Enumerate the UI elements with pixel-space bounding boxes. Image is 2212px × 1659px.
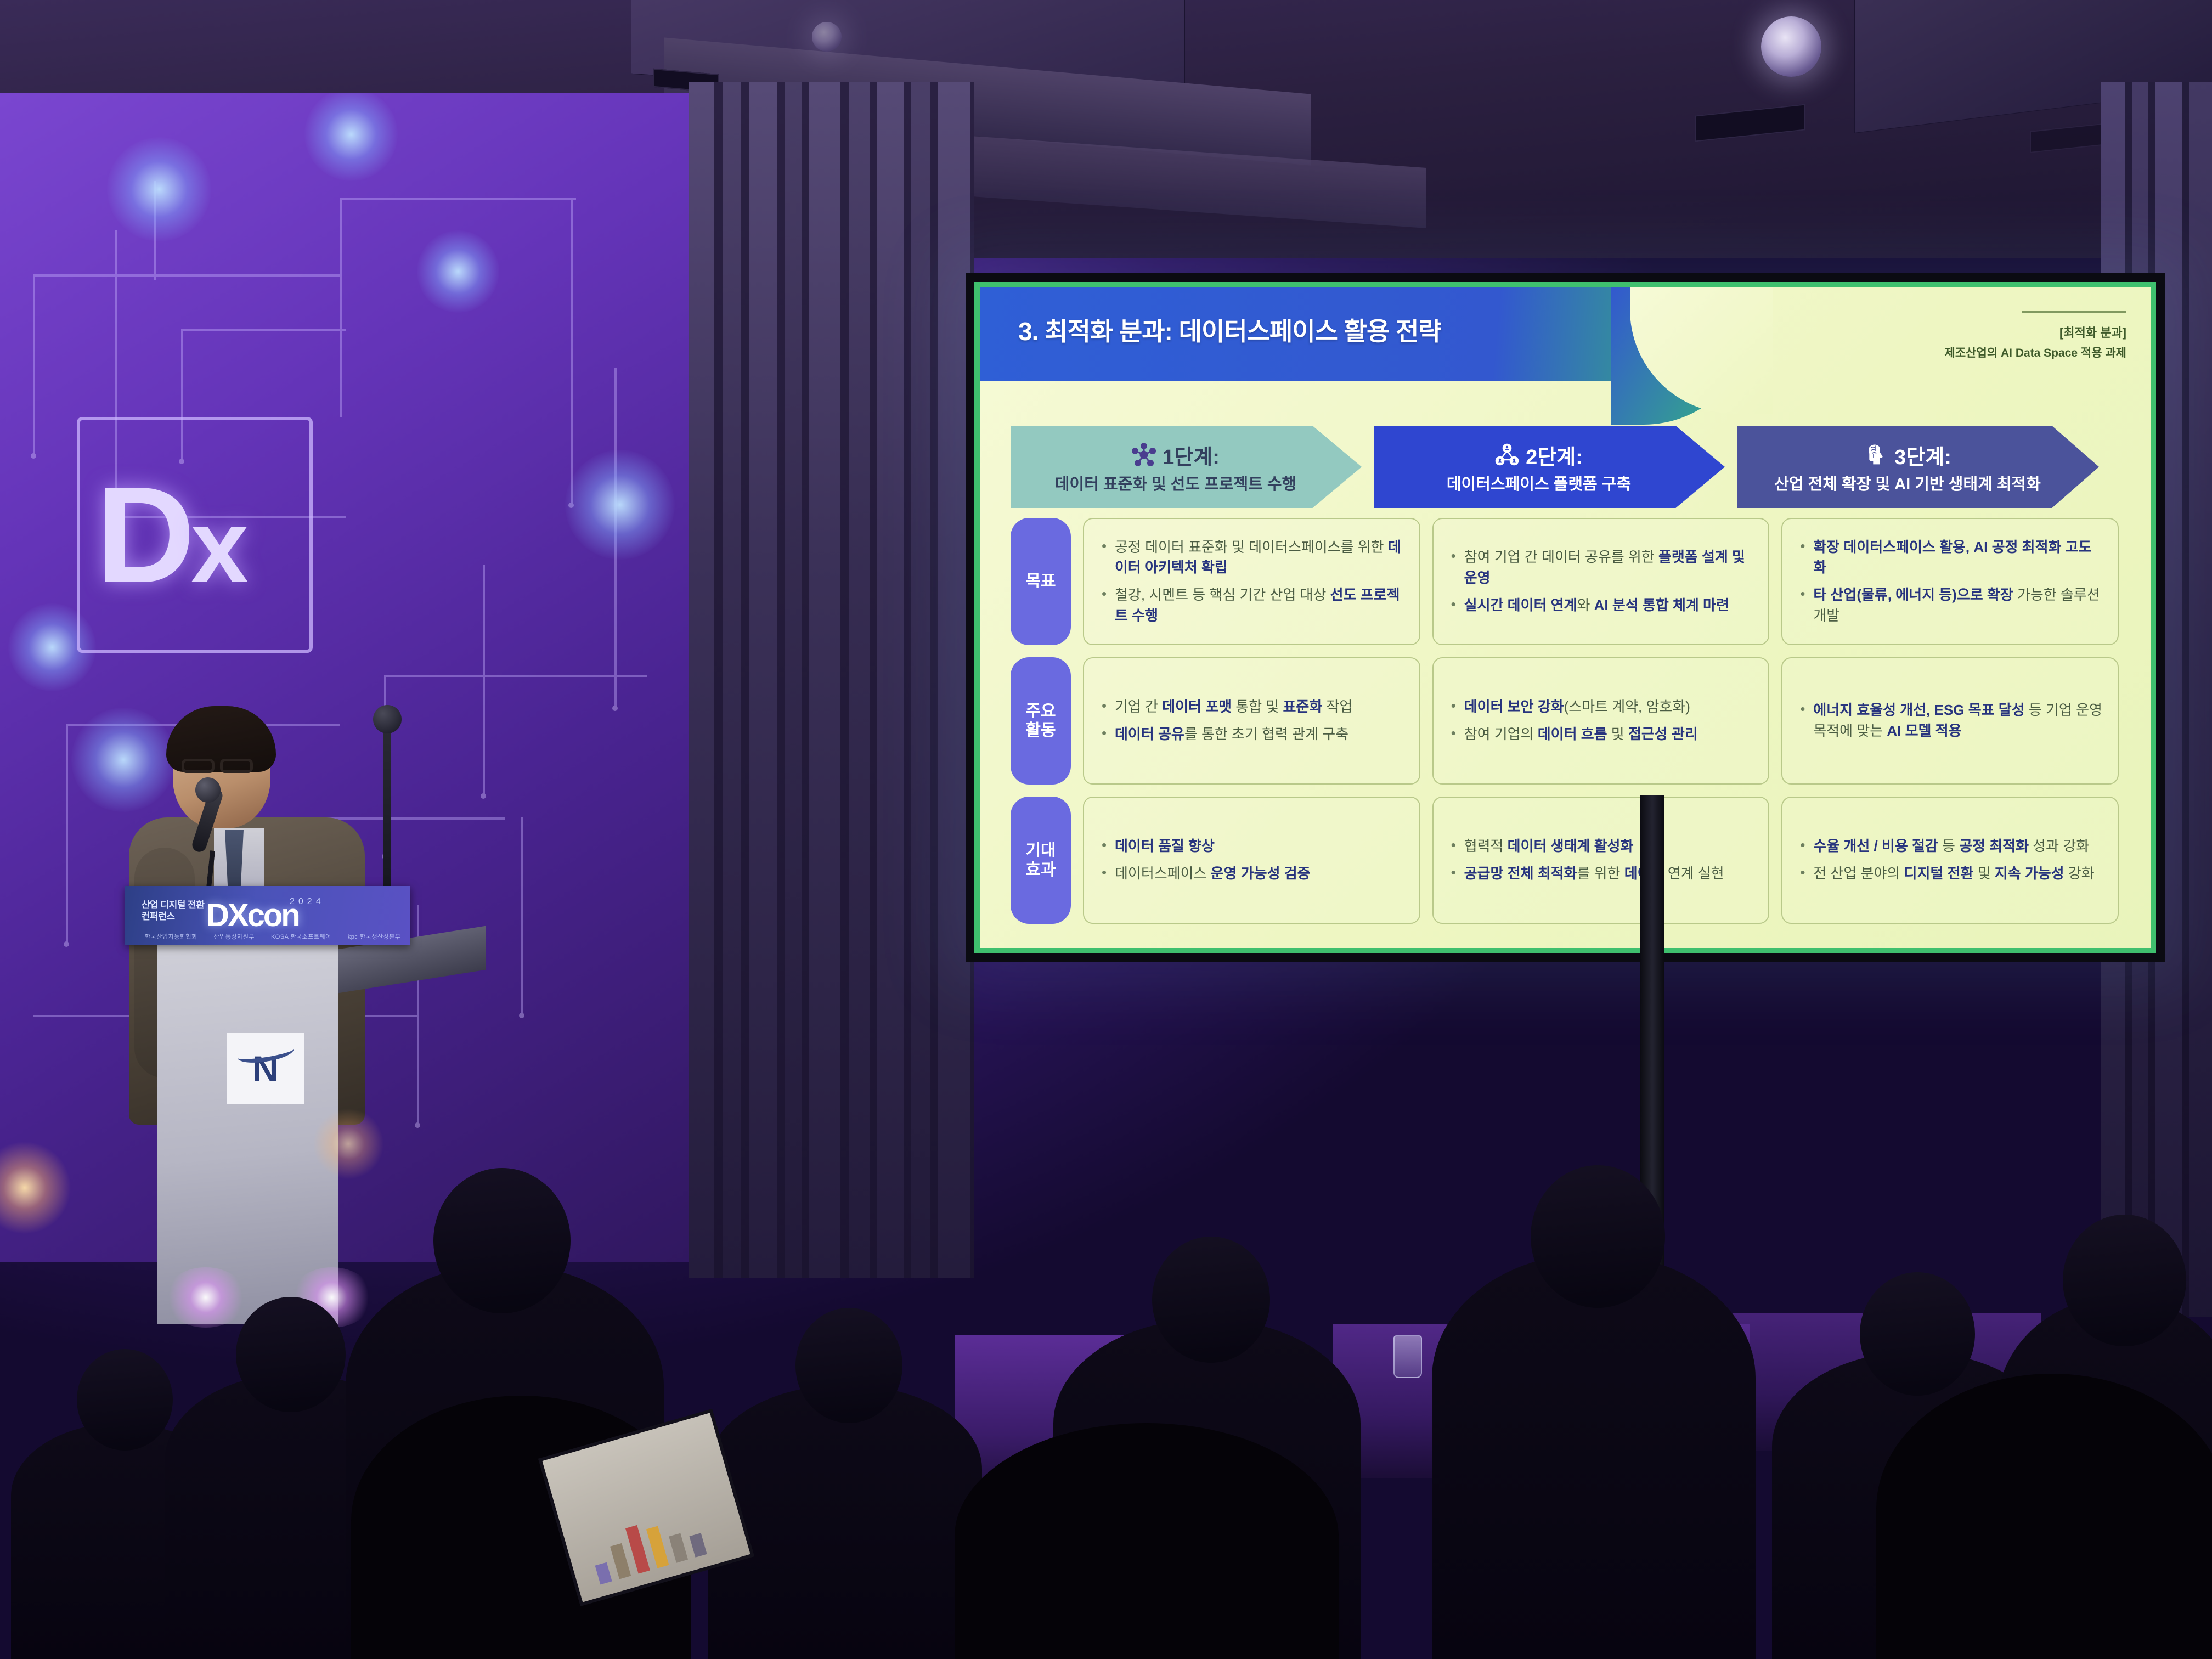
bullet: 공정 데이터 표준화 및 데이터스페이스를 위한 데이터 아키텍처 확립: [1098, 537, 1405, 578]
stage-label: 1단계:: [1163, 440, 1220, 470]
bullet: 에너지 효율성 개선, ESG 목표 달성 등 기업 운영 목적에 맞는 AI …: [1797, 700, 2103, 741]
ceiling-vent: [1695, 104, 1805, 142]
slide-title: 3. 최적화 분과: 데이터스페이스 활용 전략: [1018, 312, 1441, 348]
matrix-cell: 확장 데이터스페이스 활용, AI 공정 최적화 고도화 타 산업(물류, 에너…: [1781, 518, 2119, 645]
water-glass: [1393, 1335, 1422, 1378]
row-label-goal: 목표: [1011, 518, 1071, 645]
audience-area: [0, 1028, 2212, 1659]
audience-head: [1531, 1165, 1665, 1308]
strategy-matrix: 목표 공정 데이터 표준화 및 데이터스페이스를 위한 데이터 아키텍처 확립 …: [1011, 518, 2119, 936]
laptop-chart-bar: [646, 1526, 669, 1568]
matrix-cell: 수율 개선 / 비용 절감 등 공정 최적화 성과 강화 전 산업 분야의 디지…: [1781, 797, 2119, 924]
microphone-head: [195, 777, 221, 803]
audience-head: [433, 1168, 571, 1313]
matrix-row: 주요 활동 기업 간 데이터 포맷 통합 및 표준화 작업 데이터 공유를 통한…: [1011, 657, 2119, 785]
audience-head: [2063, 1215, 2186, 1346]
audience-member: [1432, 1253, 1756, 1659]
audience-head: [1152, 1237, 1270, 1363]
conference-photo-scene: Dx 3. 최적화 분과: 데이터스페이스 활용 전략 [최적화 분과]: [0, 0, 2212, 1659]
ceiling-spotlight: [812, 22, 842, 52]
sponsor-strip: 한국산업지능화협회 산업통상자원부 KOSA 한국소프트웨어 kpc 한국생산성…: [145, 932, 400, 941]
stage-arrow-2: 2단계: 데이터스페이스 플랫폼 구축: [1374, 426, 1725, 508]
podium-banner: 산업 디지털 전환 컨퍼런스 DXcon 2024 한국산업지능화협회 산업통상…: [125, 886, 410, 945]
speaker-glasses-left: [182, 759, 215, 773]
matrix-cell: 에너지 효율성 개선, ESG 목표 달성 등 기업 운영 목적에 맞는 AI …: [1781, 657, 2119, 785]
bullet: 실시간 데이터 연계와 AI 분석 통합 체계 마련: [1448, 595, 1754, 616]
sponsor-logo: 한국산업지능화협회: [145, 932, 198, 941]
dx-circuit-logo: Dx: [96, 444, 294, 625]
bullet: 참여 기업 간 데이터 공유를 위한 플랫폼 설계 및 운영: [1448, 547, 1754, 588]
dxcon-brand: DXcon: [206, 897, 299, 934]
sponsor-logo: 산업통상자원부: [214, 932, 255, 941]
bullet: 기업 간 데이터 포맷 통합 및 표준화 작업: [1098, 697, 1405, 718]
bullet: 철강, 시멘트 등 핵심 기간 산업 대상 선도 프로젝트 수행: [1098, 585, 1405, 626]
stage-description: 산업 전체 확장 및 AI 기반 생태계 최적화: [1774, 471, 2041, 494]
bullet: 타 산업(물류, 에너지 등)으로 확장 가능한 솔루션 개발: [1797, 585, 2103, 626]
audience-head: [795, 1308, 902, 1423]
circuit-glow-node: [107, 137, 211, 241]
bullet: 데이터 품질 향상: [1098, 836, 1405, 857]
stage-description: 데이터 표준화 및 선도 프로젝트 수행: [1055, 471, 1297, 494]
bullet: 협력적 데이터 생태계 활성화: [1448, 836, 1754, 857]
dxcon-year: 2024: [290, 897, 325, 907]
matrix-cell: 공정 데이터 표준화 및 데이터스페이스를 위한 데이터 아키텍처 확립 철강,…: [1083, 518, 1420, 645]
bullet: 확장 데이터스페이스 활용, AI 공정 최적화 고도화: [1797, 537, 2103, 578]
laptop-chart-bar: [690, 1533, 707, 1558]
presentation-slide: 3. 최적화 분과: 데이터스페이스 활용 전략 [최적화 분과] 제조산업의 …: [974, 282, 2156, 953]
network-node-icon: [1132, 443, 1156, 467]
audience-head: [1860, 1272, 1975, 1396]
matrix-cell: 협력적 데이터 생태계 활성화 공급망 전체 최적화를 위한 데이터 연계 실현: [1432, 797, 1770, 924]
audience-head: [236, 1297, 346, 1412]
meta-divider: [2022, 311, 2126, 313]
stage-arrow-row: 1단계: 데이터 표준화 및 선도 프로젝트 수행: [1011, 426, 2113, 508]
laptop-chart-bar: [625, 1525, 650, 1574]
brain-head-icon: [1864, 443, 1888, 467]
bullet: 데이터 공유를 통한 초기 협력 관계 구축: [1098, 724, 1405, 745]
foreground-head: [955, 1423, 1339, 1659]
bullet: 전 산업 분야의 디지털 전환 및 지속 가능성 강화: [1797, 864, 2103, 884]
laptop-chart-bar: [610, 1543, 631, 1579]
matrix-cell: 참여 기업 간 데이터 공유를 위한 플랫폼 설계 및 운영 실시간 데이터 연…: [1432, 518, 1770, 645]
podium-mic-head: [373, 705, 402, 733]
sponsor-logo: KOSA 한국소프트웨어: [271, 932, 331, 941]
slide-meta-session: [최적화 분과]: [1945, 323, 2126, 341]
projection-screen: 3. 최적화 분과: 데이터스페이스 활용 전략 [최적화 분과] 제조산업의 …: [966, 273, 2165, 962]
stage-label: 2단계:: [1526, 440, 1583, 470]
row-label-activities: 주요 활동: [1011, 657, 1071, 785]
laptop-chart-bar: [595, 1562, 612, 1585]
podium-conference-name: 산업 디지털 전환 컨퍼런스: [142, 899, 204, 923]
bullet: 공급망 전체 최적화를 위한 데이터 연계 실현: [1448, 864, 1754, 884]
sponsor-logo: kpc 한국생산성본부: [348, 932, 401, 941]
matrix-row: 기대 효과 데이터 품질 향상 데이터스페이스 운영 가능성 검증 협력적 데이…: [1011, 797, 2119, 924]
row-label-effects: 기대 효과: [1011, 797, 1071, 924]
bullet: 데이터스페이스 운영 가능성 검증: [1098, 864, 1405, 884]
matrix-cell: 데이터 보안 강화(스마트 계약, 암호화) 참여 기업의 데이터 흐름 및 접…: [1432, 657, 1770, 785]
bullet: 데이터 보안 강화(스마트 계약, 암호화): [1448, 697, 1754, 718]
foreground-head: [1876, 1374, 2212, 1659]
circuit-glow-node: [565, 450, 675, 560]
stage-description: 데이터스페이스 플랫폼 구축: [1447, 471, 1631, 494]
laptop-chart-bar: [669, 1533, 688, 1563]
people-network-icon: [1495, 443, 1519, 467]
slide-meta: [최적화 분과] 제조산업의 AI Data Space 적용 과제: [1945, 311, 2126, 360]
audience-head: [77, 1349, 173, 1451]
audience-member: [708, 1385, 982, 1659]
ceiling-spotlight: [1761, 16, 1821, 77]
bullet: 수율 개선 / 비용 절감 등 공정 최적화 성과 강화: [1797, 836, 2103, 857]
matrix-cell: 데이터 품질 향상 데이터스페이스 운영 가능성 검증: [1083, 797, 1420, 924]
matrix-row: 목표 공정 데이터 표준화 및 데이터스페이스를 위한 데이터 아키텍처 확립 …: [1011, 518, 2119, 645]
stage-label: 3단계:: [1894, 440, 1951, 470]
stage-arrow-3: 3단계: 산업 전체 확장 및 AI 기반 생태계 최적화: [1737, 426, 2099, 508]
bullet: 참여 기업의 데이터 흐름 및 접근성 관리: [1448, 724, 1754, 745]
speaker-glasses-right: [220, 759, 253, 773]
circuit-glow-node: [417, 230, 499, 313]
slide-meta-subject: 제조산업의 AI Data Space 적용 과제: [1945, 344, 2126, 360]
stage-arrow-1: 1단계: 데이터 표준화 및 선도 프로젝트 수행: [1011, 426, 1362, 508]
matrix-cell: 기업 간 데이터 포맷 통합 및 표준화 작업 데이터 공유를 통한 초기 협력…: [1083, 657, 1420, 785]
